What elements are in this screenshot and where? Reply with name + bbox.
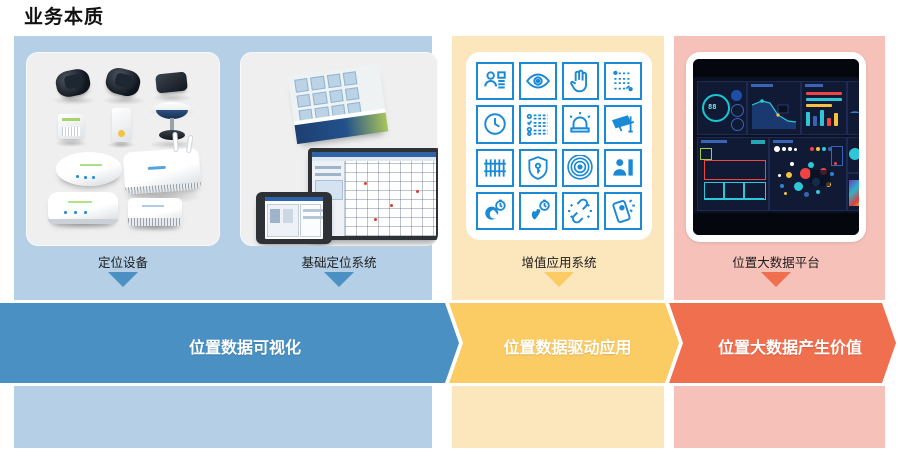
floor-plan-card — [697, 137, 769, 211]
id-card-icon[interactable] — [476, 62, 514, 100]
bar-chart-card — [801, 81, 847, 135]
arrow-label-visualization: 位置数据可视化 — [60, 334, 430, 358]
hand-icon[interactable] — [562, 62, 600, 100]
fingerprint-icon[interactable] — [562, 149, 600, 187]
gauge-value: 88 — [708, 103, 716, 111]
workflow-icon[interactable] — [604, 62, 642, 100]
software-box — [288, 64, 389, 144]
panel-value-added-application-system[interactable] — [466, 52, 652, 240]
white-cube-device — [58, 114, 84, 139]
panel-basic-positioning-system[interactable] — [240, 52, 438, 246]
round-access-point — [56, 152, 122, 186]
tag-icon[interactable] — [604, 192, 642, 230]
caption-location-big-data-platform: 位置大数据平台 — [686, 252, 866, 271]
panel-location-big-data-platform[interactable]: 88 — [686, 52, 866, 242]
big-data-dashboard: 88 — [693, 59, 859, 235]
white-card-tag — [112, 108, 131, 142]
application-icon-grid — [476, 62, 642, 230]
panel-positioning-devices[interactable] — [26, 52, 220, 246]
smart-watch-1 — [54, 67, 93, 100]
caption-basic-positioning-system: 基础定位系统 — [240, 252, 438, 271]
location-timer-icon[interactable] — [519, 192, 557, 230]
fence-icon[interactable] — [476, 149, 514, 187]
dual-antenna-access-point — [123, 147, 202, 194]
down-triangle-3 — [544, 272, 574, 287]
broken-link-icon[interactable] — [562, 192, 600, 230]
smart-watch-2 — [103, 65, 142, 98]
down-triangle-2 — [324, 272, 354, 287]
right-card-mid — [847, 137, 859, 173]
right-card-top — [847, 81, 859, 135]
arrow-label-driven-apps: 位置数据驱动应用 — [460, 334, 675, 358]
square-access-point — [48, 192, 118, 224]
down-triangle-4 — [761, 272, 791, 287]
tablet-device — [256, 192, 332, 244]
eye-icon[interactable] — [519, 62, 557, 100]
gauge-card: 88 — [697, 81, 747, 135]
bubble-cluster-card — [769, 137, 847, 211]
clock-icon[interactable] — [476, 105, 514, 143]
compact-access-point — [128, 198, 182, 226]
cctv-camera-icon[interactable] — [604, 105, 642, 143]
checklist-icon[interactable] — [519, 105, 557, 143]
moon-timer-icon[interactable] — [476, 192, 514, 230]
person-screen-icon[interactable] — [604, 149, 642, 187]
right-card-bottom — [847, 173, 859, 211]
caption-value-added-application-system: 增值应用系统 — [466, 252, 652, 271]
arrow-label-create-value: 位置大数据产生价值 — [680, 334, 900, 358]
alarm-light-icon[interactable] — [562, 105, 600, 143]
down-triangle-1 — [108, 272, 138, 287]
shield-key-icon[interactable] — [519, 149, 557, 187]
page-title: 业务本质 — [24, 2, 104, 29]
caption-positioning-devices: 定位设备 — [26, 252, 220, 271]
area-chart-card — [747, 81, 801, 135]
black-tag — [155, 71, 188, 93]
